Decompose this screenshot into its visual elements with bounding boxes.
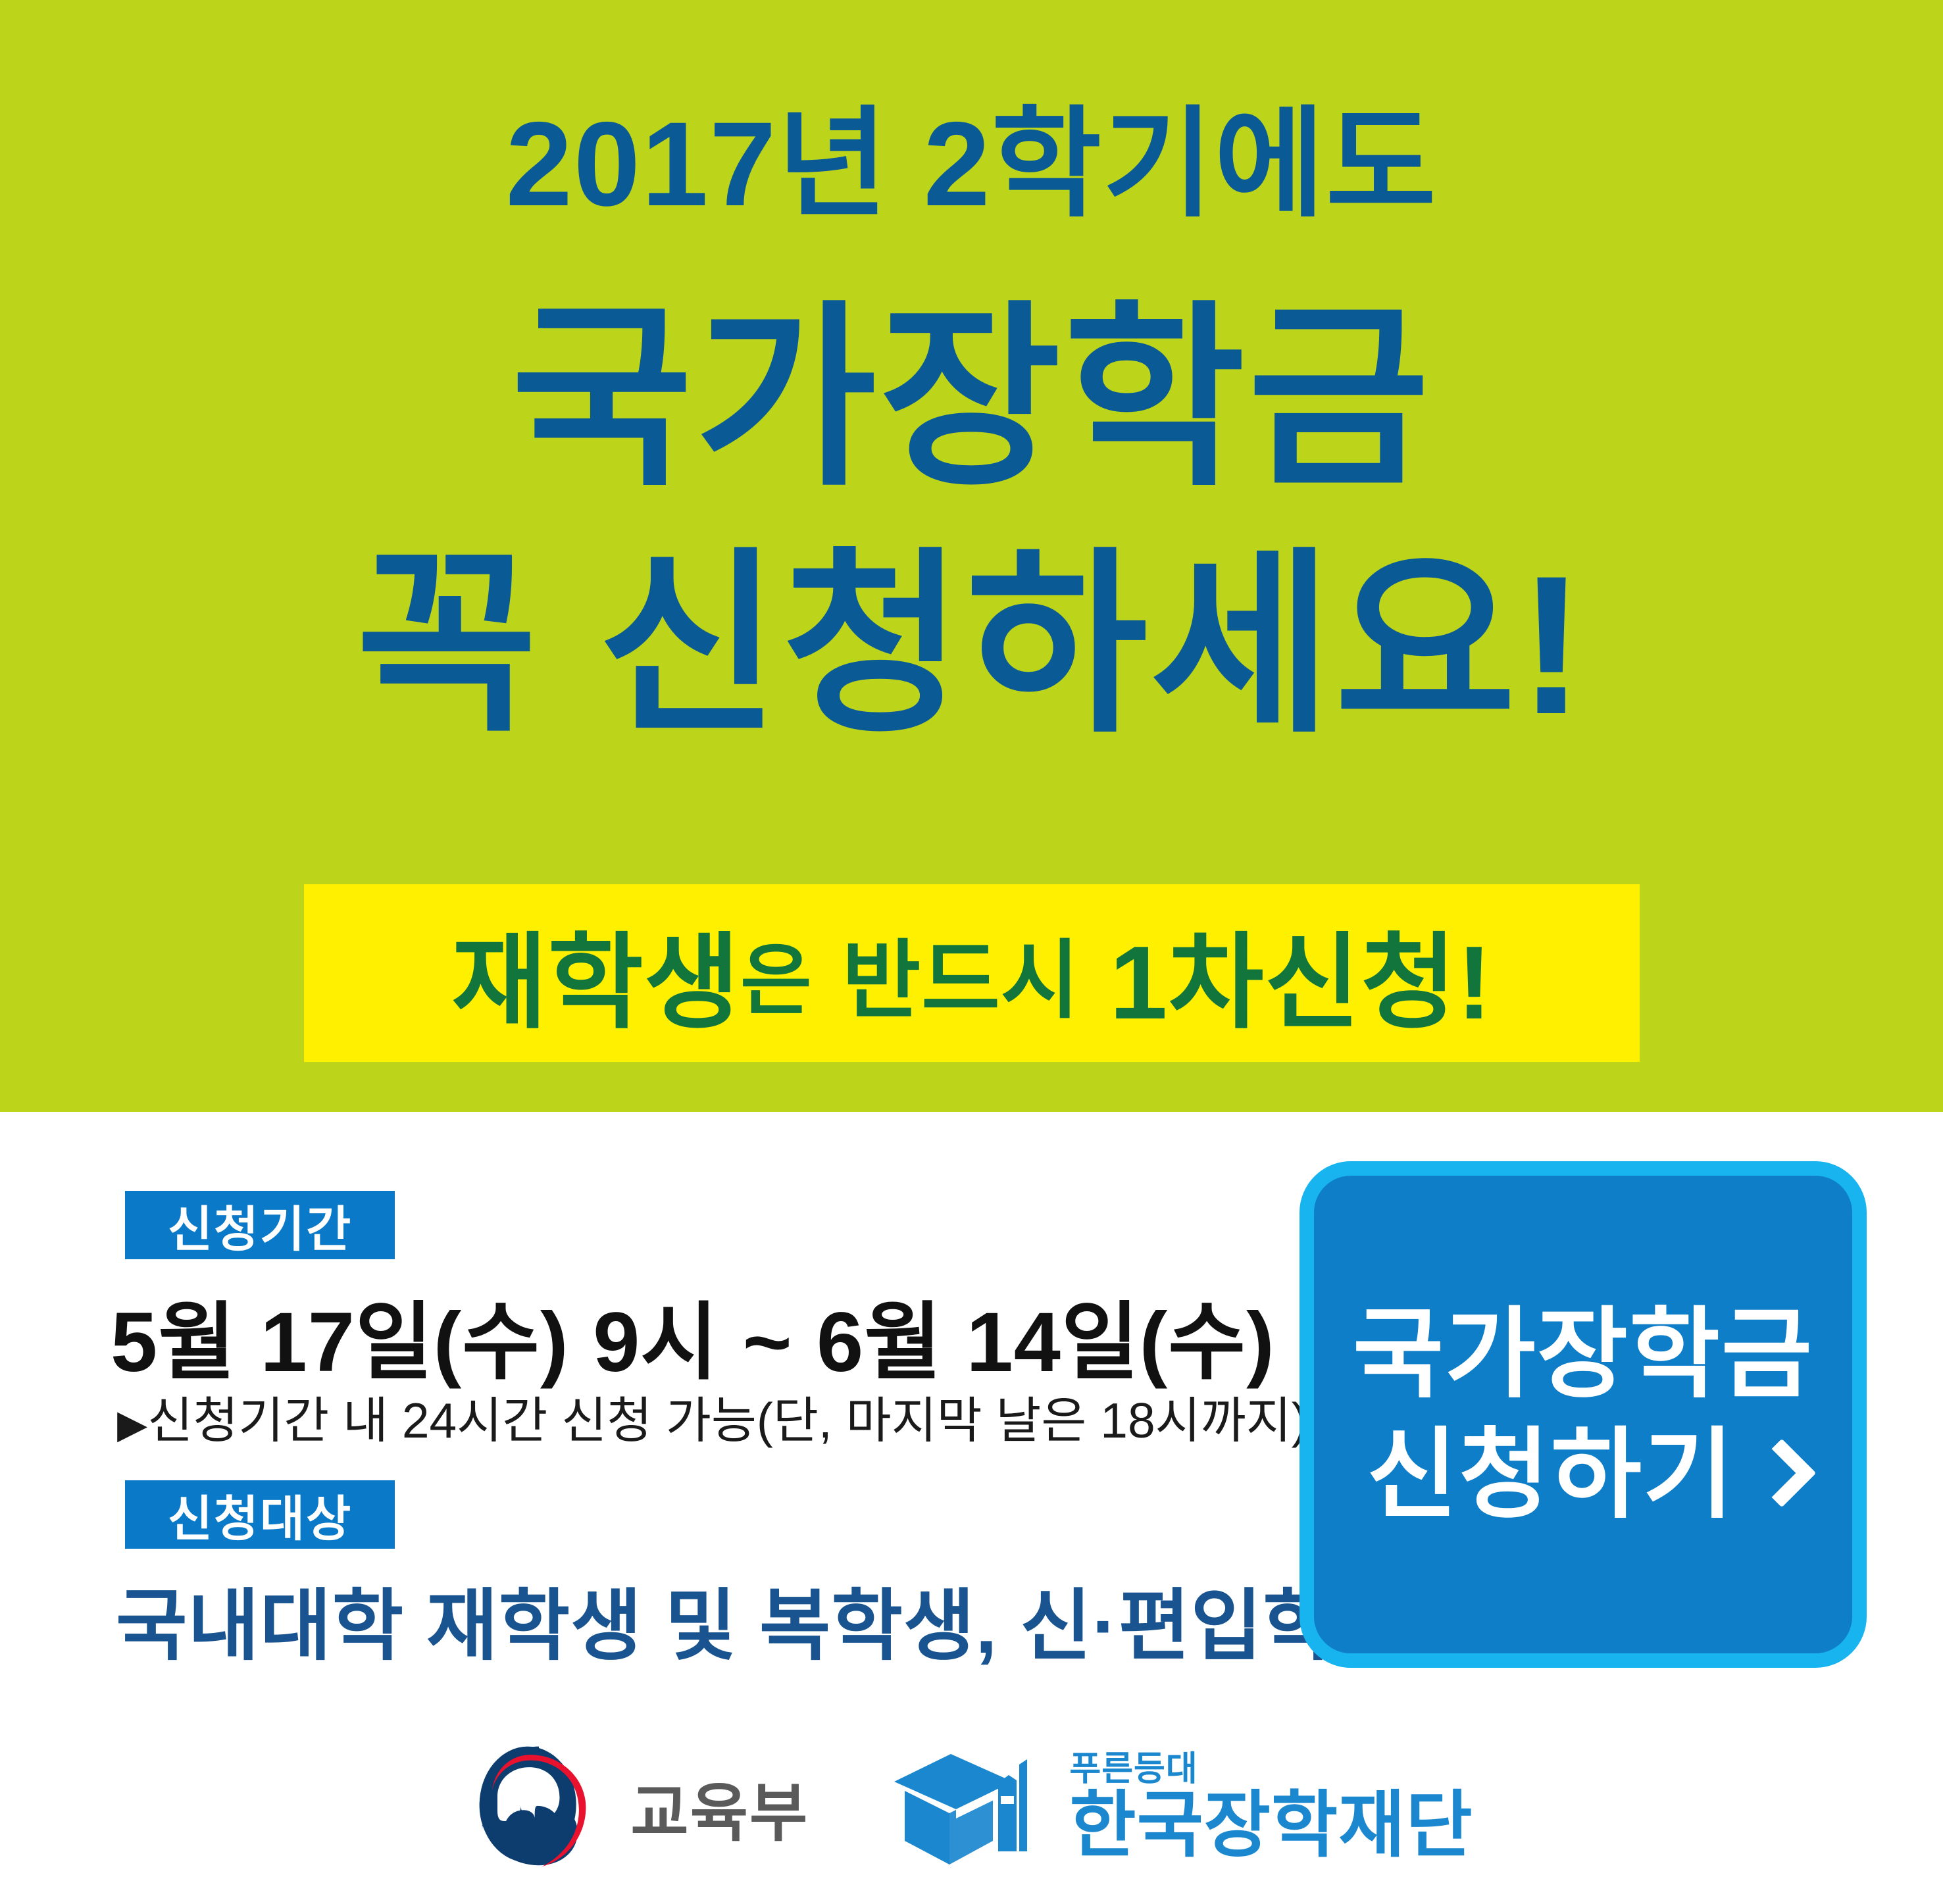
apply-button-label-line1: 국가장학금 [1353,1294,1813,1415]
apply-button-label-line2-row: 신청하기 [1367,1415,1800,1535]
highlight-part4: 1차신청! [1109,898,1492,1049]
badge-application-target: 신청대상 [125,1480,395,1549]
kosaf-wordmark: 푸른등대 한국장학재단 [1069,1751,1473,1863]
chevron-right-icon [1752,1440,1800,1511]
hero-section: 2017년 2학기에도 국가장학금 꼭 신청하세요! 재학생은 반드시 1차신청… [0,0,1943,1112]
triangle-right-icon: ▶ [117,1402,147,1446]
footer-logos: 교육부 푸른등대 한국장학재단 [0,1711,1943,1904]
scholarship-promo-banner: 2017년 2학기에도 국가장학금 꼭 신청하세요! 재학생은 반드시 1차신청… [0,0,1943,1904]
application-period-note: ▶신청기간 내 24시간 신청 가능(단, 마지막 날은 18시까지) [117,1380,1295,1452]
application-period-note-text: 신청기간 내 24시간 신청 가능(단, 마지막 날은 18시까지) [147,1393,1308,1448]
ministry-of-education-name: 교육부 [630,1762,809,1853]
application-target-value: 국내대학 재학생 및 복학생, 신·편입학생 [116,1563,1333,1675]
hero-headline-line2: 꼭 신청하세요! [0,546,1943,743]
apply-button-label-line2: 신청하기 [1367,1415,1735,1535]
highlight-part2: 은 [740,917,813,1030]
application-period-value: 5월 17일(수) 9시 ~ 6월 14일(수) 18시 [111,1274,1288,1395]
hero-eyebrow: 2017년 2학기에도 [0,104,1943,224]
korea-government-taegeuk-emblem [470,1738,608,1876]
ministry-of-education-logo: 교육부 [470,1738,809,1876]
apply-scholarship-button[interactable]: 국가장학금 신청하기 [1300,1161,1867,1668]
highlight-band: 재학생은 반드시 1차신청! [304,884,1640,1062]
kosaf-logo: 푸른등대 한국장학재단 [888,1738,1473,1876]
graduation-cap-lighthouse-icon [888,1738,1052,1876]
kosaf-name: 한국장학재단 [1069,1788,1473,1864]
badge-application-period: 신청기간 [125,1191,395,1259]
kosaf-tagline: 푸른등대 [1069,1751,1198,1788]
highlight-part1: 재학생 [451,898,740,1049]
hero-headline-line1: 국가장학금 [0,299,1943,497]
highlight-text: 재학생은 반드시 1차신청! [304,884,1640,1062]
highlight-part3: 반드시 [842,911,1080,1035]
